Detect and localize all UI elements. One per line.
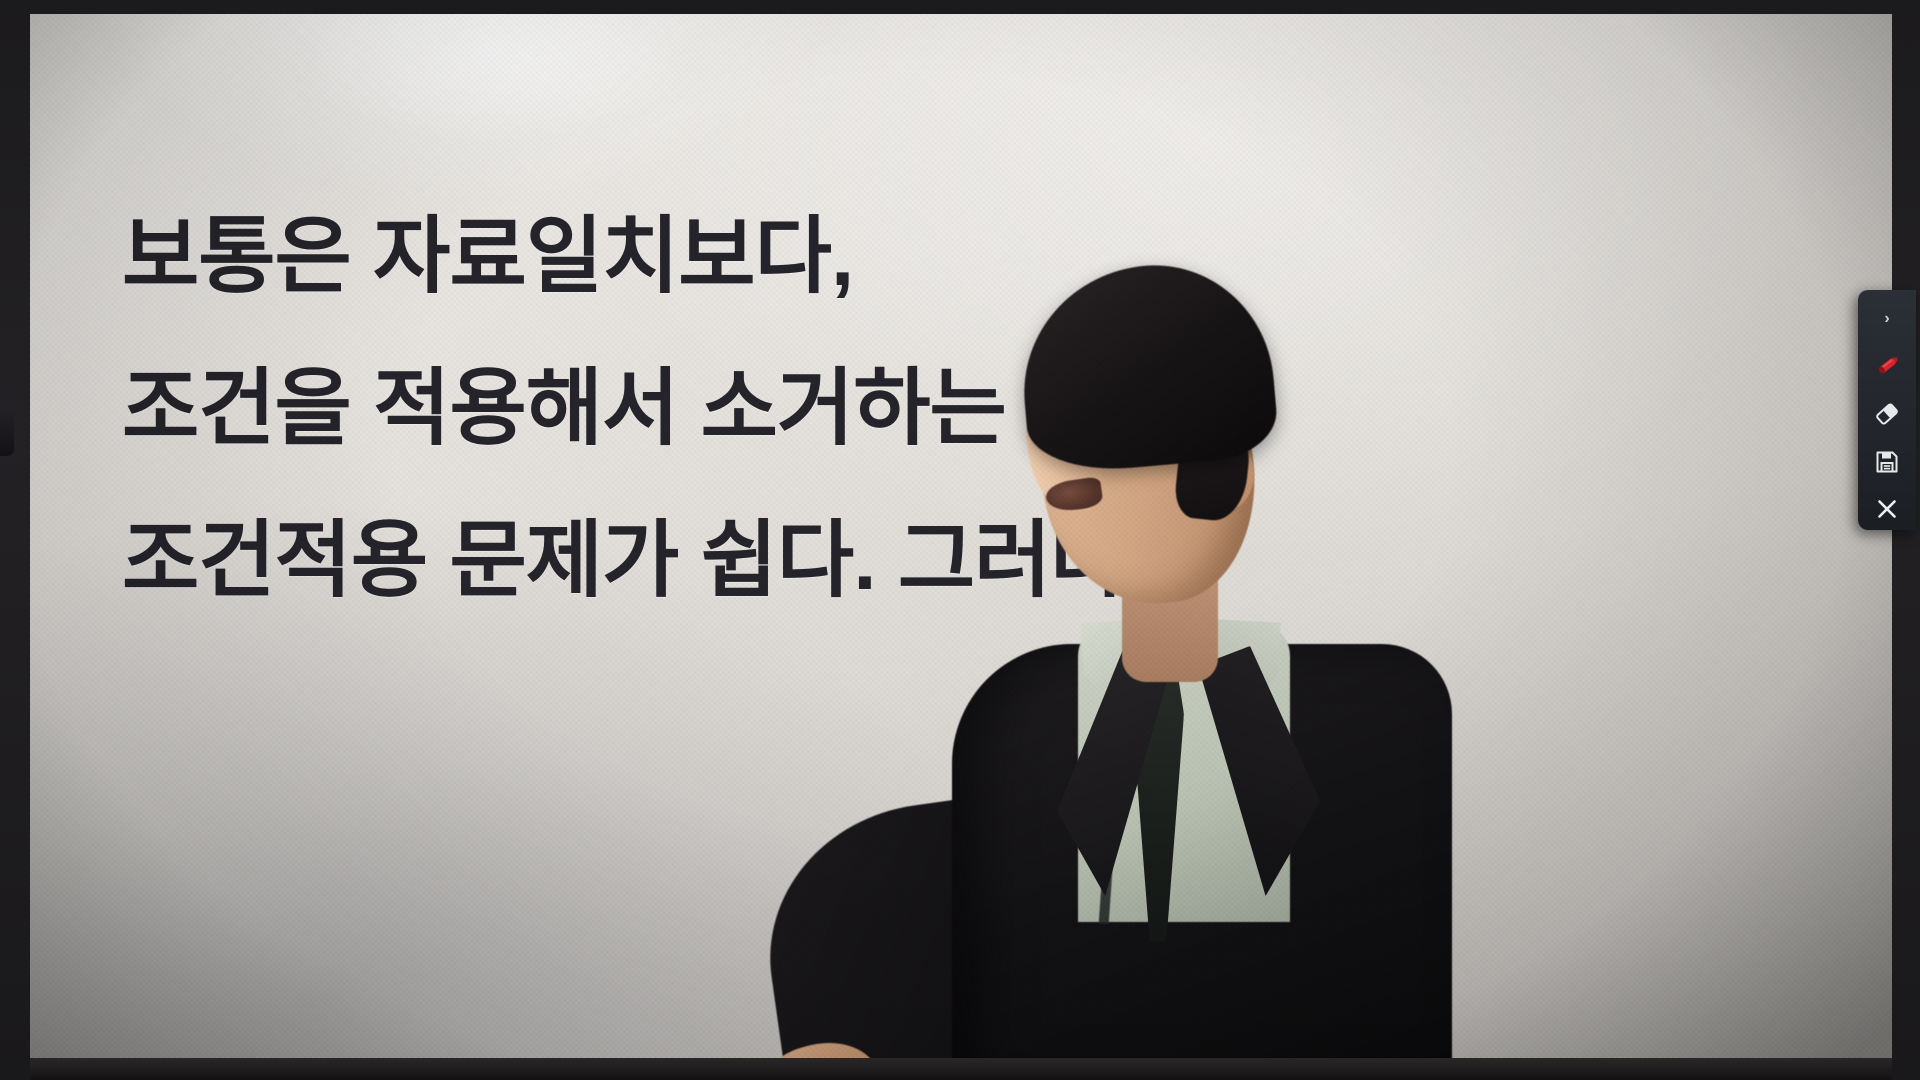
annotation-toolbar[interactable]: ›: [1858, 290, 1916, 530]
save-icon[interactable]: [1865, 441, 1909, 483]
left-edge-tab[interactable]: [0, 410, 14, 456]
chevron-right-icon[interactable]: ›: [1865, 298, 1909, 340]
display-screen: 보통은 자료일치보다, 조건을 적용해서 소거하는 조건적용 문제가 쉽다. 그…: [30, 14, 1892, 1060]
presenter-hair: [1014, 255, 1280, 476]
screen-glare: [280, 14, 700, 144]
desk-edge: [30, 1058, 1892, 1080]
eraser-icon[interactable]: [1865, 393, 1909, 435]
photo-frame: 보통은 자료일치보다, 조건을 적용해서 소거하는 조건적용 문제가 쉽다. 그…: [0, 0, 1920, 1080]
chevron-right-glyph: ›: [1884, 311, 1889, 327]
red-pen-icon[interactable]: [1865, 346, 1909, 388]
presenter: [910, 244, 1470, 1060]
close-icon[interactable]: [1865, 488, 1909, 530]
